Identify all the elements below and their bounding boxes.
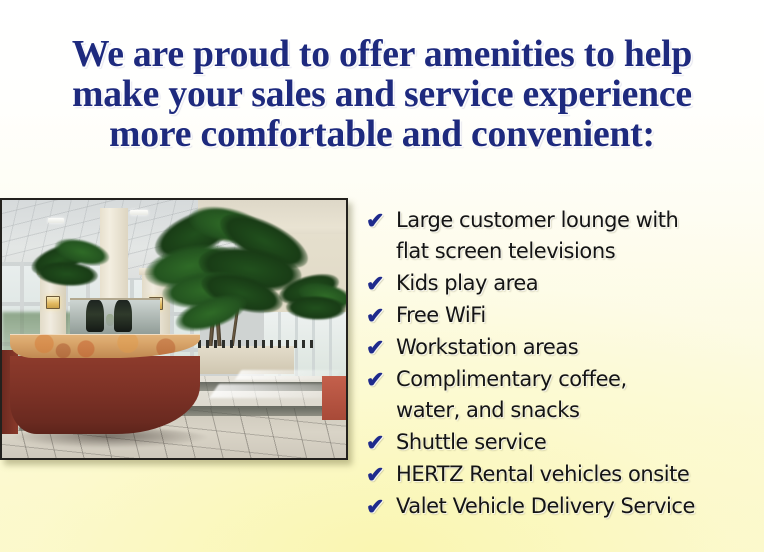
amenities-slide: We are proud to offer amenities to help … [0,0,764,552]
sculpture-left [86,300,104,332]
lobby-photo-frame [0,198,348,460]
list-item: ✔ Complimentary coffee, water, and snack… [366,364,764,426]
check-icon: ✔ [366,364,396,395]
amenity-label: Free WiFi [396,300,764,331]
planter-rail [198,340,318,348]
check-icon: ✔ [366,268,396,299]
sculpture-right [114,300,132,332]
list-item: ✔ Workstation areas [366,332,764,363]
check-icon: ✔ [366,491,396,522]
list-item: ✔ Valet Vehicle Delivery Service [366,491,764,522]
amenity-label: Valet Vehicle Delivery Service [396,491,764,522]
amenity-label: Complimentary coffee, water, and snacks [396,364,764,426]
list-item: ✔ Kids play area [366,268,764,299]
amenity-label: Kids play area [396,268,764,299]
check-icon: ✔ [366,205,396,236]
check-icon: ✔ [366,300,396,331]
amenities-list: ✔ Large customer lounge with flat screen… [366,205,764,523]
far-red-counter [322,376,346,420]
list-item: ✔ Free WiFi [366,300,764,331]
floor-sunlight [209,384,338,398]
check-icon: ✔ [366,332,396,363]
list-item: ✔ HERTZ Rental vehicles onsite [366,459,764,490]
sculpture-highlight [106,314,114,326]
amenity-label: Shuttle service [396,427,764,458]
list-item: ✔ Large customer lounge with flat screen… [366,205,764,267]
check-icon: ✔ [366,427,396,458]
lobby-photo [0,198,348,460]
page-title: We are proud to offer amenities to help … [4,34,760,154]
amenity-label: HERTZ Rental vehicles onsite [396,459,764,490]
ceiling-light [48,218,64,223]
ceiling-light [130,210,148,215]
wall-sconce-left [46,296,60,309]
amenity-label: Large customer lounge with flat screen t… [396,205,764,267]
amenity-label: Workstation areas [396,332,764,363]
check-icon: ✔ [366,459,396,490]
list-item: ✔ Shuttle service [366,427,764,458]
